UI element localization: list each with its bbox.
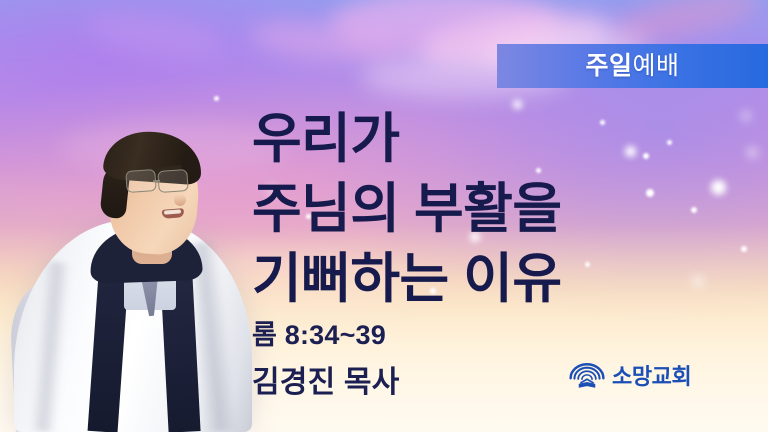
slide-canvas: 주일예배 우리가 주님의 부활을 기뻐하는 이유 롬 8:34~39 김경진 목… [0, 0, 768, 432]
service-type-label-strong: 주일 [585, 52, 632, 80]
speaker-name: 김경진 목사 [252, 357, 400, 401]
church-name: 소망교회 [612, 359, 691, 391]
church-logo: 소망교회 [568, 359, 691, 391]
service-type-banner: 주일예배 [497, 44, 768, 88]
sermon-title-line-3: 기뻐하는 이유 [252, 244, 682, 314]
scripture-reference: 롬 8:34~39 [252, 313, 386, 352]
sermon-title: 우리가 주님의 부활을 기뻐하는 이유 [252, 104, 682, 314]
sermon-title-line-2: 주님의 부활을 [252, 174, 682, 244]
service-type-label-light: 예배 [633, 52, 680, 80]
sermon-title-line-1: 우리가 [252, 104, 682, 174]
rainbow-arc-dove-book-icon [568, 360, 606, 390]
eyeglasses-lens [157, 169, 188, 193]
service-type-label: 주일예배 [585, 54, 679, 79]
pastor-portrait-photo [6, 112, 274, 432]
